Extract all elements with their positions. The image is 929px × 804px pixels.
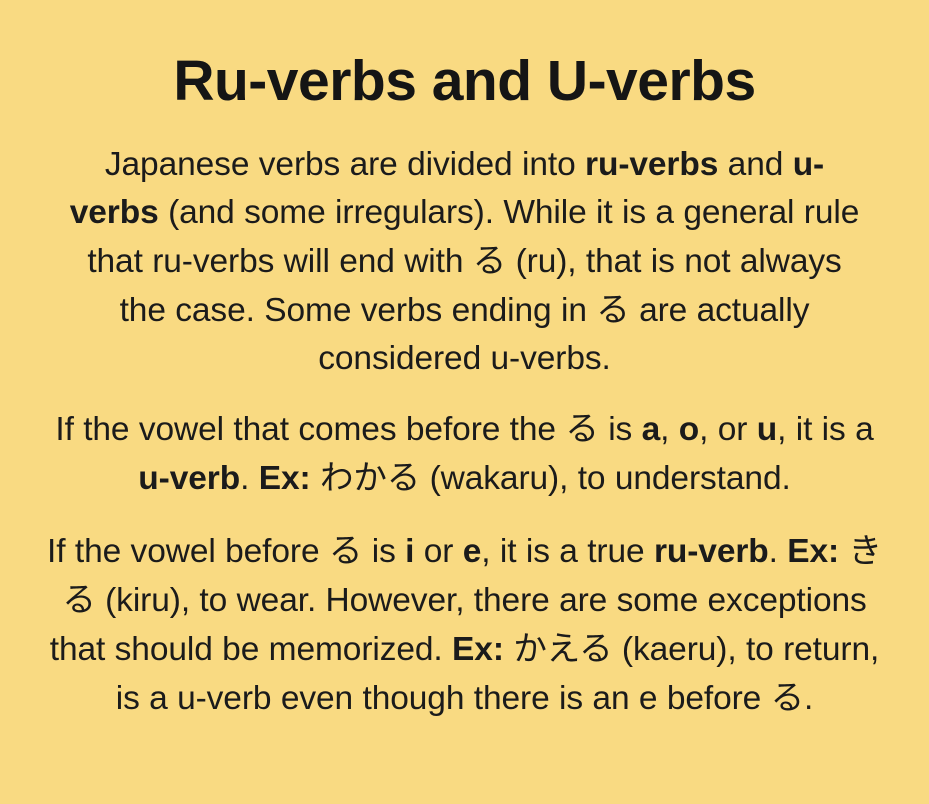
paragraph-3: If the vowel before る is i or e, it is a… [47,527,883,723]
japanese-text: る [596,290,629,329]
japanese-text: る [771,678,804,717]
paragraph-2: If the vowel that comes before the る is … [47,405,883,503]
lesson-body: Japanese verbs are divided into ru-verbs… [47,112,883,723]
japanese-text: わかる [320,458,420,497]
japanese-text: る [329,531,362,570]
paragraph-1: Japanese verbs are divided into ru-verbs… [65,141,865,383]
japanese-text: かえる [513,629,612,668]
japanese-text: る [473,241,506,280]
japanese-text: る [565,409,598,448]
lesson-card: Ru-verbs and U-verbs Japanese verbs are … [0,0,929,804]
page-title: Ru-verbs and U-verbs [35,0,895,112]
